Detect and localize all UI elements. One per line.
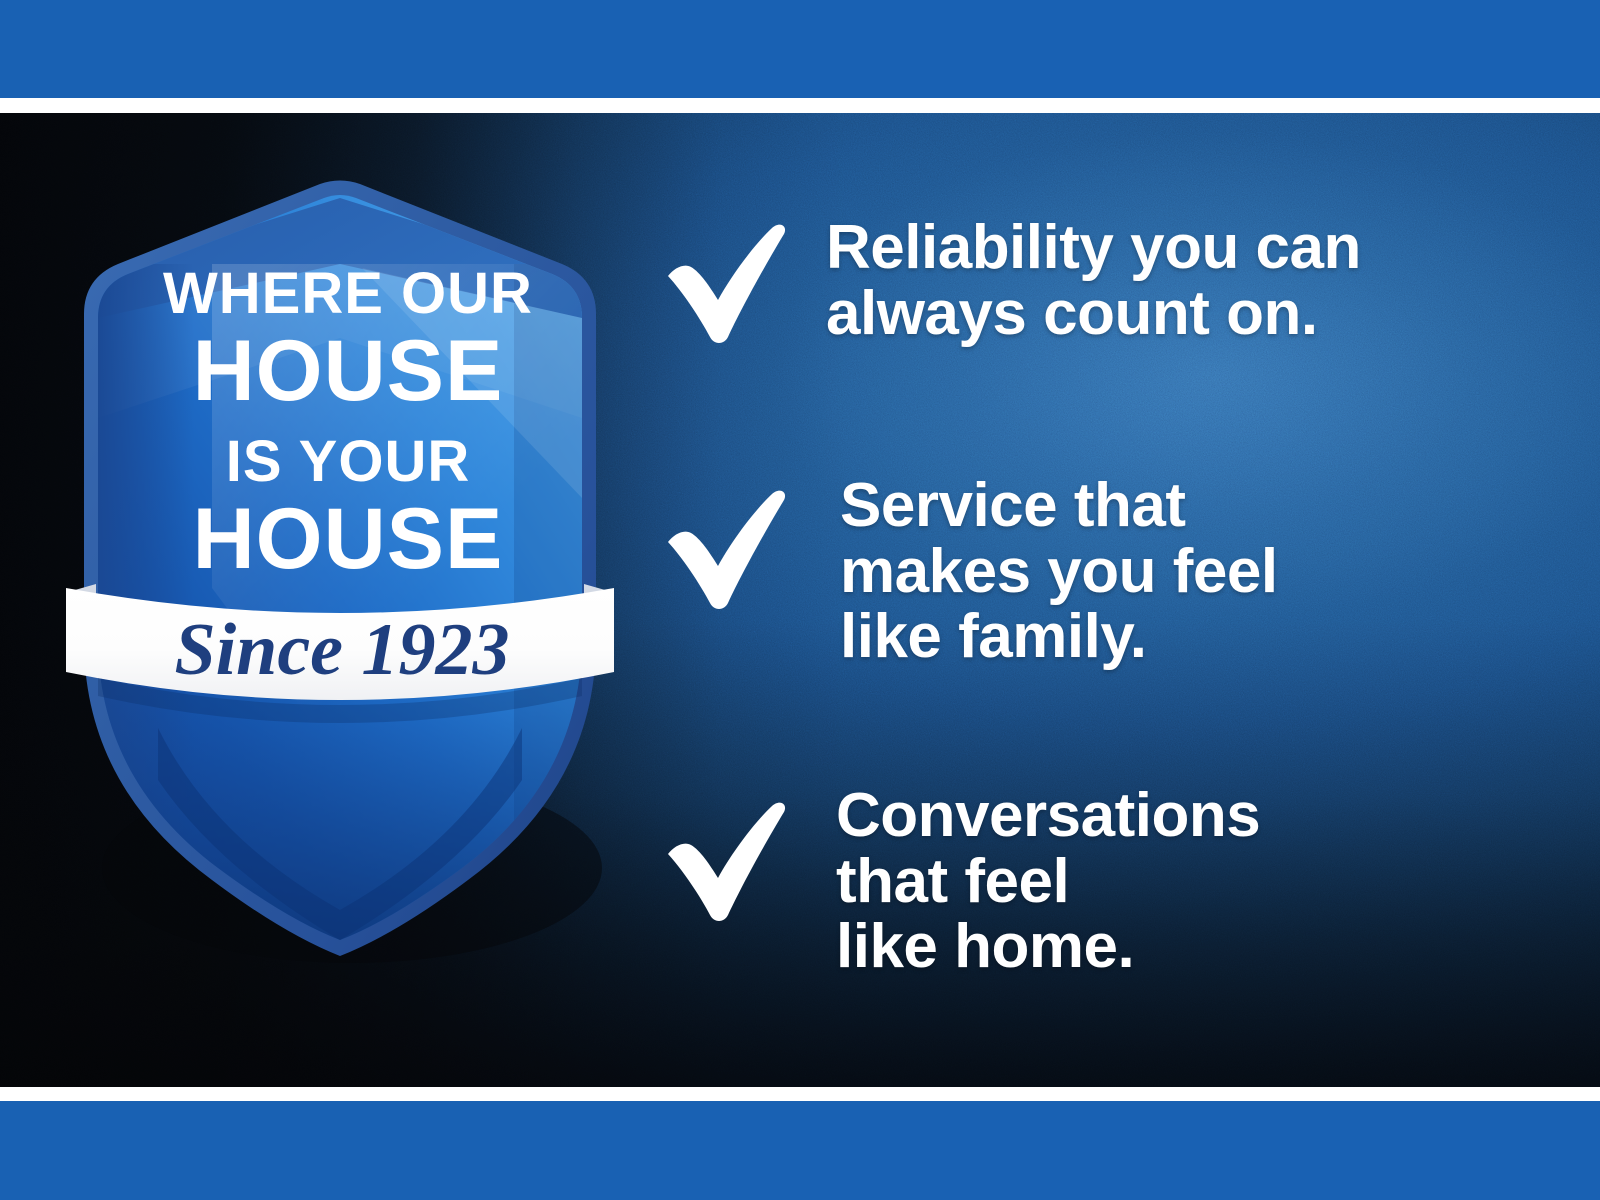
shield-line-4: HOUSE xyxy=(193,491,504,587)
list-item: Reliability you can always count on. xyxy=(660,213,1361,346)
top-brand-bar xyxy=(0,0,1600,98)
benefit-text: Reliability you can always count on. xyxy=(826,213,1361,346)
bottom-brand-bar xyxy=(0,1101,1600,1200)
shield-badge: WHERE OUR HOUSE IS YOUR HOUSE Since 1923 xyxy=(62,168,618,940)
benefit-text: Service that makes you feel like family. xyxy=(840,471,1278,670)
check-icon xyxy=(660,799,792,923)
ribbon-script-text: Since 1923 xyxy=(174,609,509,691)
benefits-list: Reliability you can always count on. Ser… xyxy=(660,113,1520,1087)
shield-line-1: WHERE OUR xyxy=(163,261,533,326)
check-icon xyxy=(660,221,792,345)
list-item: Service that makes you feel like family. xyxy=(660,471,1278,670)
list-item: Conversations that feel like home. xyxy=(660,781,1260,980)
benefit-text: Conversations that feel like home. xyxy=(836,781,1260,980)
promo-graphic: WHERE OUR HOUSE IS YOUR HOUSE Since 1923 xyxy=(0,0,1600,1200)
check-icon xyxy=(660,487,792,611)
shield-line-2: HOUSE xyxy=(193,323,504,419)
shield-line-3: IS YOUR xyxy=(226,429,470,494)
